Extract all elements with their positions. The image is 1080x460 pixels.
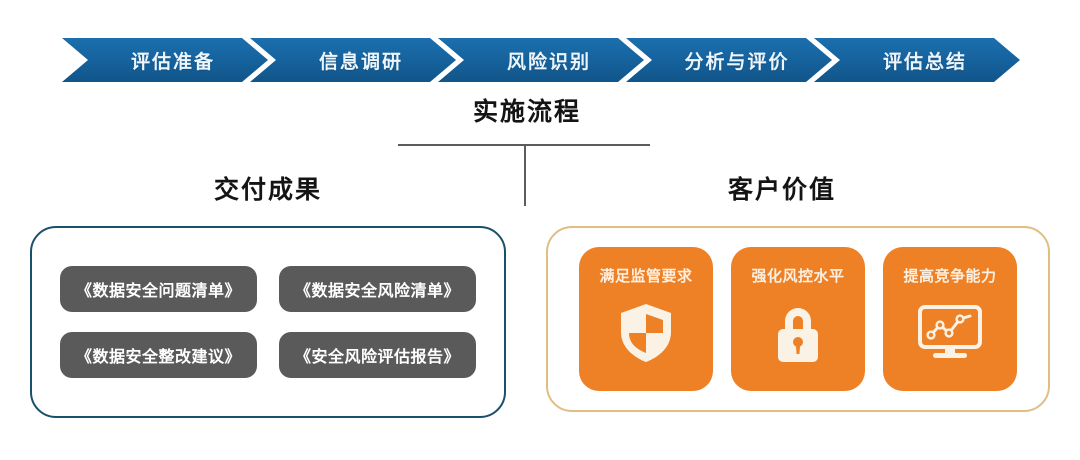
value-card-label: 强化风控水平	[751, 265, 844, 286]
deliverable-chip[interactable]: 《安全风险评估报告》	[279, 332, 476, 378]
process-step-label: 信息调研	[303, 47, 403, 74]
process-step-1[interactable]: 评估准备	[62, 38, 268, 82]
process-step-3[interactable]: 风险识别	[438, 38, 644, 82]
value-card-label: 提高竞争能力	[903, 265, 996, 286]
deliverables-heading: 交付成果	[214, 170, 322, 206]
monitor-chart-icon	[917, 300, 983, 366]
deliverable-chip[interactable]: 《数据安全问题清单》	[60, 266, 257, 312]
shield-icon	[613, 300, 679, 366]
process-step-label: 评估准备	[115, 47, 215, 74]
value-card-regulatory[interactable]: 满足监管要求	[579, 247, 713, 391]
value-card-risk-control[interactable]: 强化风控水平	[731, 247, 865, 391]
process-flow-banner: 评估准备 信息调研 风险识别 分析与评价 评估总结	[62, 38, 1020, 82]
connector-line	[398, 144, 650, 206]
deliverable-chip[interactable]: 《数据安全风险清单》	[279, 266, 476, 312]
connector-vertical-line	[524, 144, 526, 206]
process-step-5[interactable]: 评估总结	[814, 38, 1020, 82]
process-step-2[interactable]: 信息调研	[250, 38, 456, 82]
lock-icon	[765, 300, 831, 366]
value-card-label: 满足监管要求	[599, 265, 692, 286]
deliverables-panel: 《数据安全问题清单》 《数据安全风险清单》 《数据安全整改建议》 《安全风险评估…	[30, 226, 506, 418]
customer-value-heading: 客户价值	[728, 170, 836, 206]
deliverables-row: 《数据安全问题清单》 《数据安全风险清单》	[60, 266, 476, 312]
process-step-4[interactable]: 分析与评价	[626, 38, 832, 82]
deliverable-chip[interactable]: 《数据安全整改建议》	[60, 332, 257, 378]
process-step-label: 风险识别	[491, 47, 591, 74]
value-card-competitiveness[interactable]: 提高竞争能力	[883, 247, 1017, 391]
customer-value-panel: 满足监管要求 强化风控水平 提高竞争能力	[546, 226, 1050, 412]
process-step-label: 评估总结	[867, 47, 967, 74]
process-step-label: 分析与评价	[668, 47, 789, 74]
deliverables-row: 《数据安全整改建议》 《安全风险评估报告》	[60, 332, 476, 378]
section-title: 实施流程	[0, 92, 1054, 128]
